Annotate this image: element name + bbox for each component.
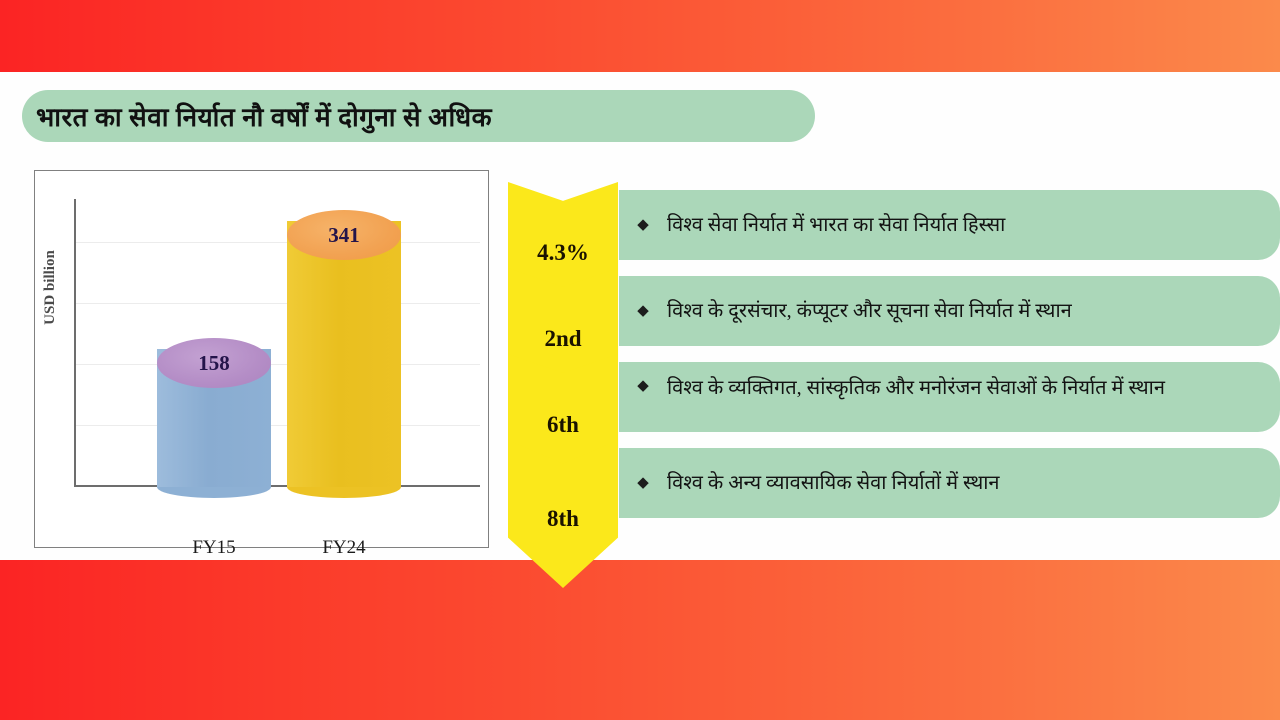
slide-content-area: भारत का सेवा निर्यात नौ वर्षों में दोगुन… — [0, 72, 1280, 560]
chart-value-fy24: 341 — [328, 223, 360, 248]
chart-x-axis — [74, 485, 480, 487]
chart-category-label-fy15: FY15 — [157, 537, 271, 559]
chart-gridline — [75, 425, 480, 426]
title-banner: भारत का सेवा निर्यात नौ वर्षों में दोगुन… — [22, 90, 815, 142]
bullet-diamond-icon: ◆ — [619, 373, 667, 394]
chart-gridline — [75, 303, 480, 304]
chart-gridline — [75, 364, 480, 365]
fact-card-1-text: विश्व सेवा निर्यात में भारत का सेवा निर्… — [667, 210, 1023, 240]
chart-category-label-fy24: FY24 — [287, 537, 401, 559]
chart-value-fy15: 158 — [198, 351, 230, 376]
bullet-diamond-icon: ◆ — [619, 476, 667, 491]
chart-gridline — [75, 242, 480, 243]
fact-card-2: ◆ विश्व के दूरसंचार, कंप्यूटर और सूचना स… — [619, 276, 1280, 346]
chart-plot-area: 158 341 FY15 FY24 — [74, 199, 480, 515]
chart-bar-fy24-cap: 341 — [287, 210, 401, 260]
fact-card-3: ◆ विश्व के व्यक्तिगत, सांस्कृतिक और मनोर… — [619, 362, 1280, 432]
chart-bar-fy24-body — [287, 221, 401, 487]
chevron-stack: 4.3% 2nd 6th 8th — [508, 182, 618, 582]
bottom-gradient-band — [0, 560, 1280, 720]
fact-card-2-text: विश्व के दूरसंचार, कंप्यूटर और सूचना सेव… — [667, 296, 1090, 326]
fact-card-4-text: विश्व के अन्य व्यावसायिक सेवा निर्यातों … — [667, 468, 1018, 498]
chart-bar-fy15: 158 — [157, 338, 271, 498]
fact-card-4: ◆ विश्व के अन्य व्यावसायिक सेवा निर्यातो… — [619, 448, 1280, 518]
fact-card-1: ◆ विश्व सेवा निर्यात में भारत का सेवा नि… — [619, 190, 1280, 260]
chart-bar-fy24: 341 — [287, 210, 401, 498]
chevron-label-4: 8th — [547, 506, 579, 588]
chart-bar-fy15-cap: 158 — [157, 338, 271, 388]
bullet-diamond-icon: ◆ — [619, 218, 667, 233]
chart-y-axis — [74, 199, 76, 487]
chart-panel: USD billion 158 341 — [34, 170, 489, 548]
page-title: भारत का सेवा निर्यात नौ वर्षों में दोगुन… — [36, 98, 492, 134]
chart-y-axis-label: USD billion — [42, 250, 59, 325]
top-gradient-band — [0, 0, 1280, 72]
fact-card-3-text: विश्व के व्यक्तिगत, सांस्कृतिक और मनोरंज… — [667, 373, 1183, 403]
bullet-diamond-icon: ◆ — [619, 304, 667, 319]
